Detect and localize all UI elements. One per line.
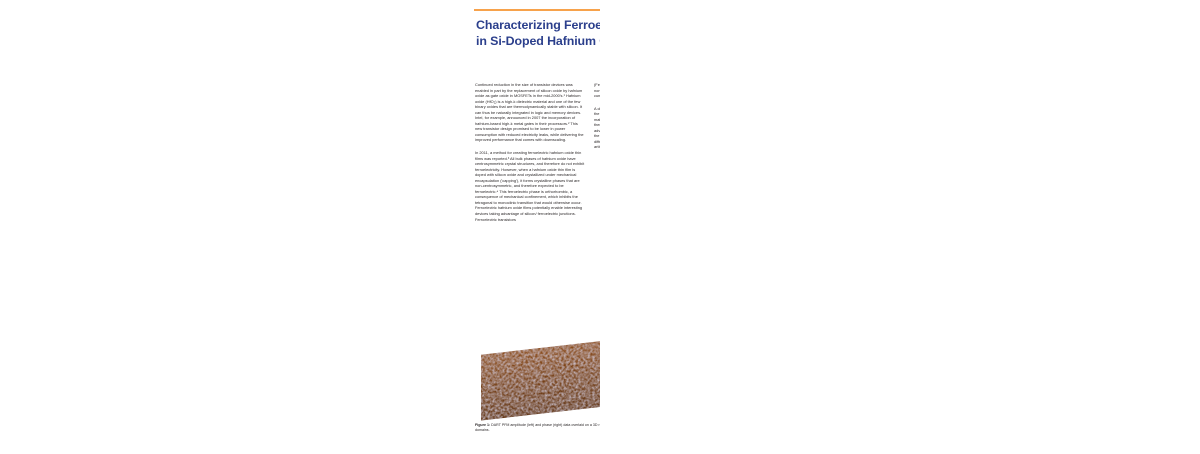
article-section: Characterizing Ferroelectric Response in… [236, 0, 591, 454]
references-section: References Zhu, H., C. Tang, L. R. C. Fo… [800, 0, 1200, 454]
paragraph: In 2011, a method for creating ferroelec… [475, 150, 585, 222]
body-column-1: Continued reduction in the size of trans… [475, 82, 585, 340]
figure-2-section: 300 nm pm 50 -75 100pm 50 0 100 200nm [600, 0, 800, 454]
amplitude-surface-svg [481, 339, 615, 420]
afm-3d-amplitude-render [481, 339, 615, 420]
paragraph: Continued reduction in the size of trans… [475, 82, 585, 143]
page-root: Characterizing Ferroelectric Response in… [0, 0, 1200, 454]
figure-1-caption-label: Figure 1: [475, 423, 490, 427]
